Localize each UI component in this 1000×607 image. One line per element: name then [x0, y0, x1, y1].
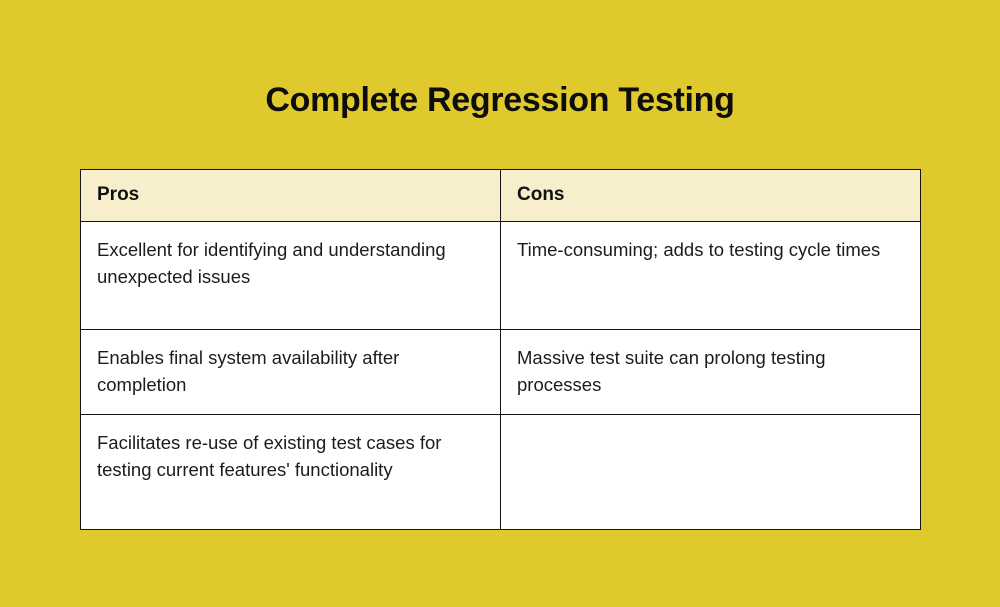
column-header-pros: Pros: [81, 170, 501, 222]
cell-pros: Facilitates re-use of existing test case…: [81, 415, 501, 530]
table-row: Excellent for identifying and understand…: [81, 222, 921, 330]
page-title: Complete Regression Testing: [0, 78, 1000, 122]
table-body: Excellent for identifying and understand…: [81, 222, 921, 530]
table-header-row: Pros Cons: [81, 170, 921, 222]
slide-canvas: Complete Regression Testing Pros Cons Ex…: [0, 0, 1000, 607]
cell-cons-empty: [501, 415, 921, 530]
table-row: Enables final system availability after …: [81, 330, 921, 415]
pros-cons-table: Pros Cons Excellent for identifying and …: [80, 169, 921, 530]
table-row: Facilitates re-use of existing test case…: [81, 415, 921, 530]
table-header: Pros Cons: [81, 170, 921, 222]
cell-pros: Enables final system availability after …: [81, 330, 501, 415]
cell-cons: Massive test suite can prolong testing p…: [501, 330, 921, 415]
cell-pros: Excellent for identifying and understand…: [81, 222, 501, 330]
column-header-cons: Cons: [501, 170, 921, 222]
cell-cons: Time-consuming; adds to testing cycle ti…: [501, 222, 921, 330]
